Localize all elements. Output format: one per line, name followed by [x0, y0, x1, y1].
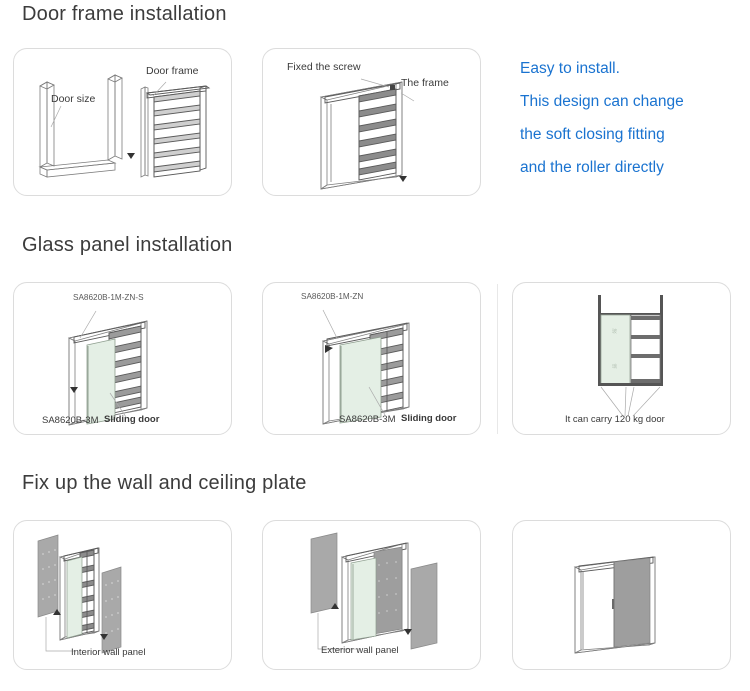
note-line-4: and the roller directly [520, 151, 664, 184]
panel-interior-wall: Interior wall panel [13, 520, 232, 670]
panel-glass-middle: SA8620B-1M-ZN SA8620B-3M Sliding door [262, 282, 481, 435]
label-load-capacity: It can carry 120 kg door [565, 414, 665, 425]
door-size-illustration [14, 49, 233, 197]
label-door-frame: Door frame [146, 65, 199, 77]
label-model-bottom-name-middle: Sliding door [401, 413, 456, 424]
panel-load-capacity: 玻 璃 It can carry 120 kg door [512, 282, 731, 435]
label-model-bottom-code-middle: SA8620B-3M [339, 414, 396, 425]
label-model-top-middle: SA8620B-1M-ZN [301, 292, 363, 301]
note-line-3: the soft closing fitting [520, 118, 665, 151]
note-line-2: This design can change [520, 85, 684, 118]
section-title-glass-panel: Glass panel installation [22, 234, 232, 257]
panel-finished-door [512, 520, 731, 670]
panel-fixed-screw: Fixed the screw The frame [262, 48, 481, 196]
label-fixed-the-screw: Fixed the screw [287, 61, 361, 73]
label-the-frame: The frame [401, 77, 449, 89]
panel-door-size: Door size Door frame [13, 48, 232, 196]
label-model-top-left: SA8620B-1M-ZN-S [73, 293, 144, 302]
note-line-1: Easy to install. [520, 52, 620, 85]
label-exterior-wall-panel: Exterior wall panel [321, 645, 399, 656]
finished-door-illustration [513, 521, 732, 671]
svg-text:璃: 璃 [612, 363, 617, 370]
svg-text:玻: 玻 [612, 328, 617, 335]
label-door-size: Door size [51, 93, 95, 105]
panel-exterior-wall: Exterior wall panel [262, 520, 481, 670]
installation-guide-page: Door frame installation [0, 0, 750, 691]
panel-glass-left: SA8620B-1M-ZN-S SA8620B-3M Sliding door [13, 282, 232, 435]
section-title-door-frame: Door frame installation [22, 3, 227, 26]
label-model-bottom-name-left: Sliding door [104, 414, 159, 425]
vertical-divider [497, 284, 498, 434]
section-title-fix-wall: Fix up the wall and ceiling plate [22, 472, 307, 495]
label-model-bottom-code-left: SA8620B-3M [42, 415, 99, 426]
label-interior-wall-panel: Interior wall panel [71, 647, 145, 658]
